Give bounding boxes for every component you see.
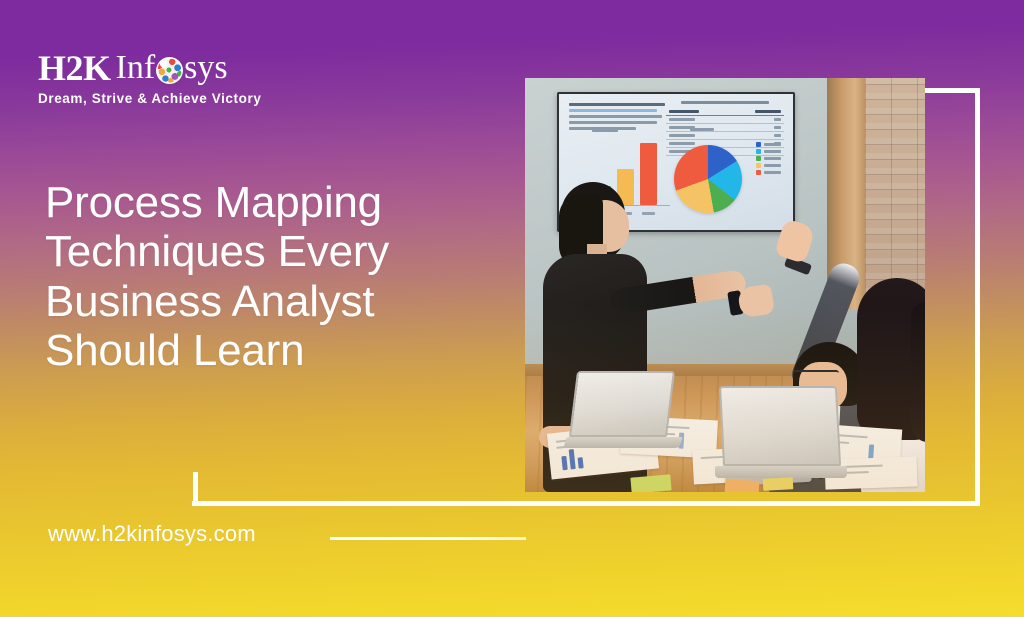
laptop-left	[573, 371, 681, 448]
headline-line-4: Should Learn	[45, 326, 515, 375]
footer-divider-line	[330, 537, 526, 540]
headline-line-2: Techniques Every	[45, 227, 515, 276]
logo-tagline: Dream, Strive & Achieve Victory	[38, 91, 268, 106]
logo-wordmark: H2K Inf sys	[38, 48, 268, 88]
marketing-banner: H2K Inf sys Dream, Strive & Achieve Vict…	[0, 0, 1024, 617]
page-title: Process Mapping Techniques Every Busines…	[45, 178, 515, 375]
logo-inf-text: Inf	[116, 51, 156, 85]
frame-right-edge	[975, 88, 980, 506]
logo-h2k-text: H2K	[38, 50, 111, 86]
frame-left-stub	[193, 472, 198, 506]
website-url[interactable]: www.h2kinfosys.com	[48, 521, 256, 547]
column-chart-title	[592, 129, 618, 132]
slide-pie-chart	[674, 145, 742, 213]
sticky-note	[725, 479, 760, 492]
headline-line-3: Business Analyst	[45, 277, 515, 326]
sticky-note	[763, 477, 794, 491]
sticky-note	[630, 474, 671, 492]
hero-photo	[525, 78, 925, 492]
pie-chart-legend	[756, 142, 781, 175]
h2k-infosys-logo[interactable]: H2K Inf sys Dream, Strive & Achieve Vict…	[38, 48, 268, 110]
frame-bottom-edge	[192, 501, 980, 506]
headline-line-1: Process Mapping	[45, 178, 515, 227]
eyeglasses-icon	[793, 370, 839, 379]
globe-people-icon	[156, 57, 183, 84]
laptop-right	[721, 386, 847, 478]
logo-sys-text: sys	[184, 51, 227, 85]
pie-chart-title	[690, 128, 714, 131]
